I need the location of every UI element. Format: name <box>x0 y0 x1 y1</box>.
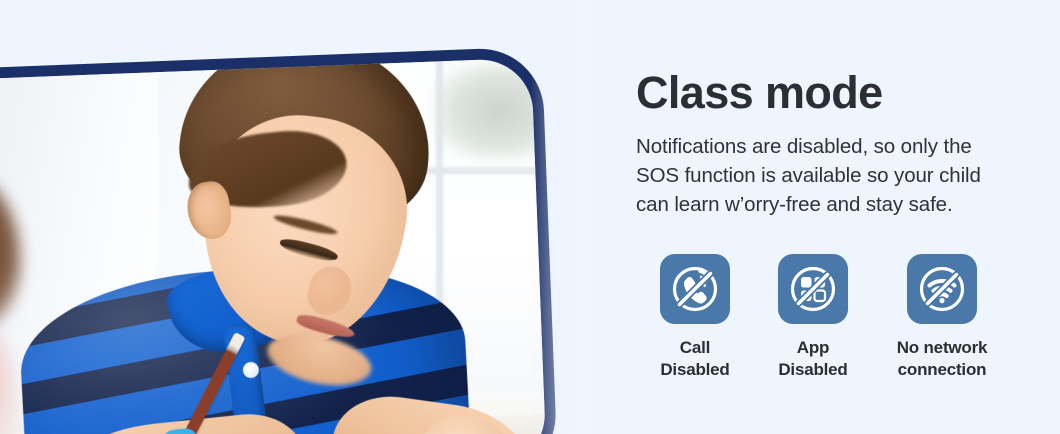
phone-call-disabled-icon <box>670 264 720 314</box>
app-grid-disabled-icon <box>788 264 838 314</box>
feature-label: App Disabled <box>778 337 847 381</box>
class-mode-banner: Class mode Notifications are disabled, s… <box>0 0 1060 434</box>
page-title: Class mode <box>636 66 1036 120</box>
schoolboy <box>44 46 500 434</box>
feature-label: Call Disabled <box>660 337 729 381</box>
feature-app-disabled: App Disabled <box>754 254 872 381</box>
feature-call-disabled: Call Disabled <box>636 254 754 381</box>
feature-list: Call Disabled App Disabled <box>636 254 1012 381</box>
feature-label: No network connection <box>897 337 988 381</box>
classroom-photo <box>0 46 558 434</box>
description-text: Notifications are disabled, so only the … <box>636 132 1014 219</box>
call-disabled-tile <box>660 254 730 324</box>
photo-zone <box>0 0 600 434</box>
no-network-tile <box>907 254 977 324</box>
app-disabled-tile <box>778 254 848 324</box>
text-content: Class mode Notifications are disabled, s… <box>636 66 1036 219</box>
shirt-button <box>243 362 259 378</box>
photo-frame <box>0 46 558 434</box>
feature-no-network: No network connection <box>872 254 1012 381</box>
wifi-disabled-icon <box>917 264 967 314</box>
